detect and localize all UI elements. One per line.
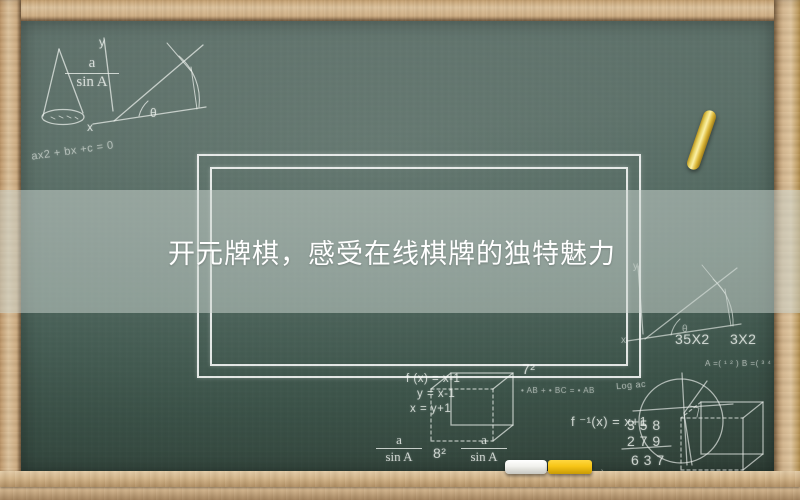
fraction-numerator: a (376, 433, 422, 447)
chalk-log-ac: Log ac (616, 379, 647, 392)
tray-chalk-white-icon (505, 460, 547, 474)
fraction-bar (461, 448, 507, 449)
fraction-denominator: sin A (461, 450, 507, 464)
page-title: 开元牌棋，感受在线棋牌的独特魅力 (0, 190, 800, 313)
frame-top-edge (0, 0, 800, 21)
chalk-fx-line-2: y = x-1 (417, 388, 455, 400)
fraction-denominator: sin A (65, 75, 119, 91)
chalk-subtraction-row-3: 6 3 7 (631, 452, 665, 468)
chalk-vector-sum: • AB + • BC = • AB (521, 386, 595, 395)
chalk-quadratic-equation: ax2 + bx +c = 0 (31, 139, 115, 162)
chalk-matrix-notation: A =( ¹ ² ) B =( ³ ⁴ ) AB =( ⁵ ⁶ ) (705, 359, 774, 368)
tray-chalk-yellow-icon (548, 460, 592, 474)
chalk-angle-theta-right: θ (682, 324, 688, 335)
fraction-denominator: sin A (376, 450, 422, 464)
chalk-tray (0, 471, 800, 487)
chalk-matrix-3x2: 3X2 (730, 331, 756, 347)
chalk-fraction-a-over-sinA-bottom-mid: a sin A (461, 433, 507, 463)
fraction-bar (65, 73, 119, 74)
fraction-numerator: a (65, 56, 119, 72)
chalk-fraction-a-over-sinA-bottom-left: a sin A (376, 433, 422, 463)
chalk-angle-theta-left: θ (150, 106, 157, 120)
chalk-axis-y-left: y (99, 35, 106, 49)
screenshot-root: y x θ a sin A ax2 + bx +c = 0 (0, 0, 800, 500)
chalk-stick-yellow-icon (685, 109, 717, 172)
chalk-eight-squared: 8² (433, 445, 446, 461)
chalk-matrix-35x2: 35X2 (675, 331, 710, 347)
fraction-numerator: a (461, 433, 507, 447)
fraction-bar (376, 448, 422, 449)
chalk-subtraction-row-2: 2 7 9 (627, 433, 661, 449)
chalk-inverse-function: f ⁻¹(x) = x+1 (571, 414, 647, 430)
chalk-fraction-a-over-sinA-top: a sin A (65, 56, 119, 91)
chalk-subtraction-row-1: 3 5 8 (627, 417, 661, 433)
chalk-axis-x-left: x (87, 120, 94, 134)
chalk-fx-line-3: x = y+1 (410, 403, 451, 415)
